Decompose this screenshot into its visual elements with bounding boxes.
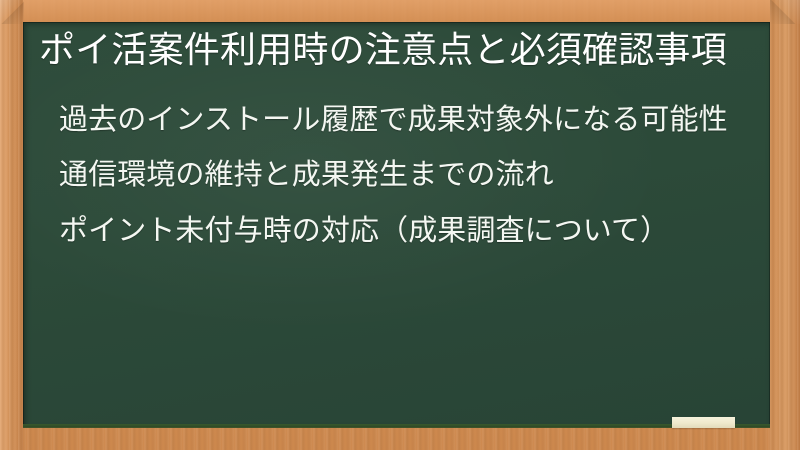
frame-right-rail	[770, 0, 800, 450]
chalk-stick-icon	[672, 417, 735, 428]
frame-miter-top-right-icon	[770, 0, 800, 24]
page-title: ポイ活案件利用時の注意点と必須確認事項	[31, 28, 752, 74]
list-item: 過去のインストール履歴で成果対象外になる可能性	[59, 100, 752, 138]
bullet-list: 過去のインストール履歴で成果対象外になる可能性 通信環境の維持と成果発生までの流…	[31, 100, 752, 249]
blackboard-slide: ポイ活案件利用時の注意点と必須確認事項 過去のインストール履歴で成果対象外になる…	[0, 0, 800, 450]
list-item: ポイント未付与時の対応（成果調査について）	[59, 211, 752, 249]
frame-left-rail	[0, 0, 23, 450]
list-item: 通信環境の維持と成果発生までの流れ	[59, 155, 752, 193]
frame-miter-top-left-icon	[0, 0, 24, 24]
slide-content: ポイ活案件利用時の注意点と必須確認事項 過去のインストール履歴で成果対象外になる…	[23, 22, 770, 427]
frame-top-rail	[0, 0, 800, 23]
